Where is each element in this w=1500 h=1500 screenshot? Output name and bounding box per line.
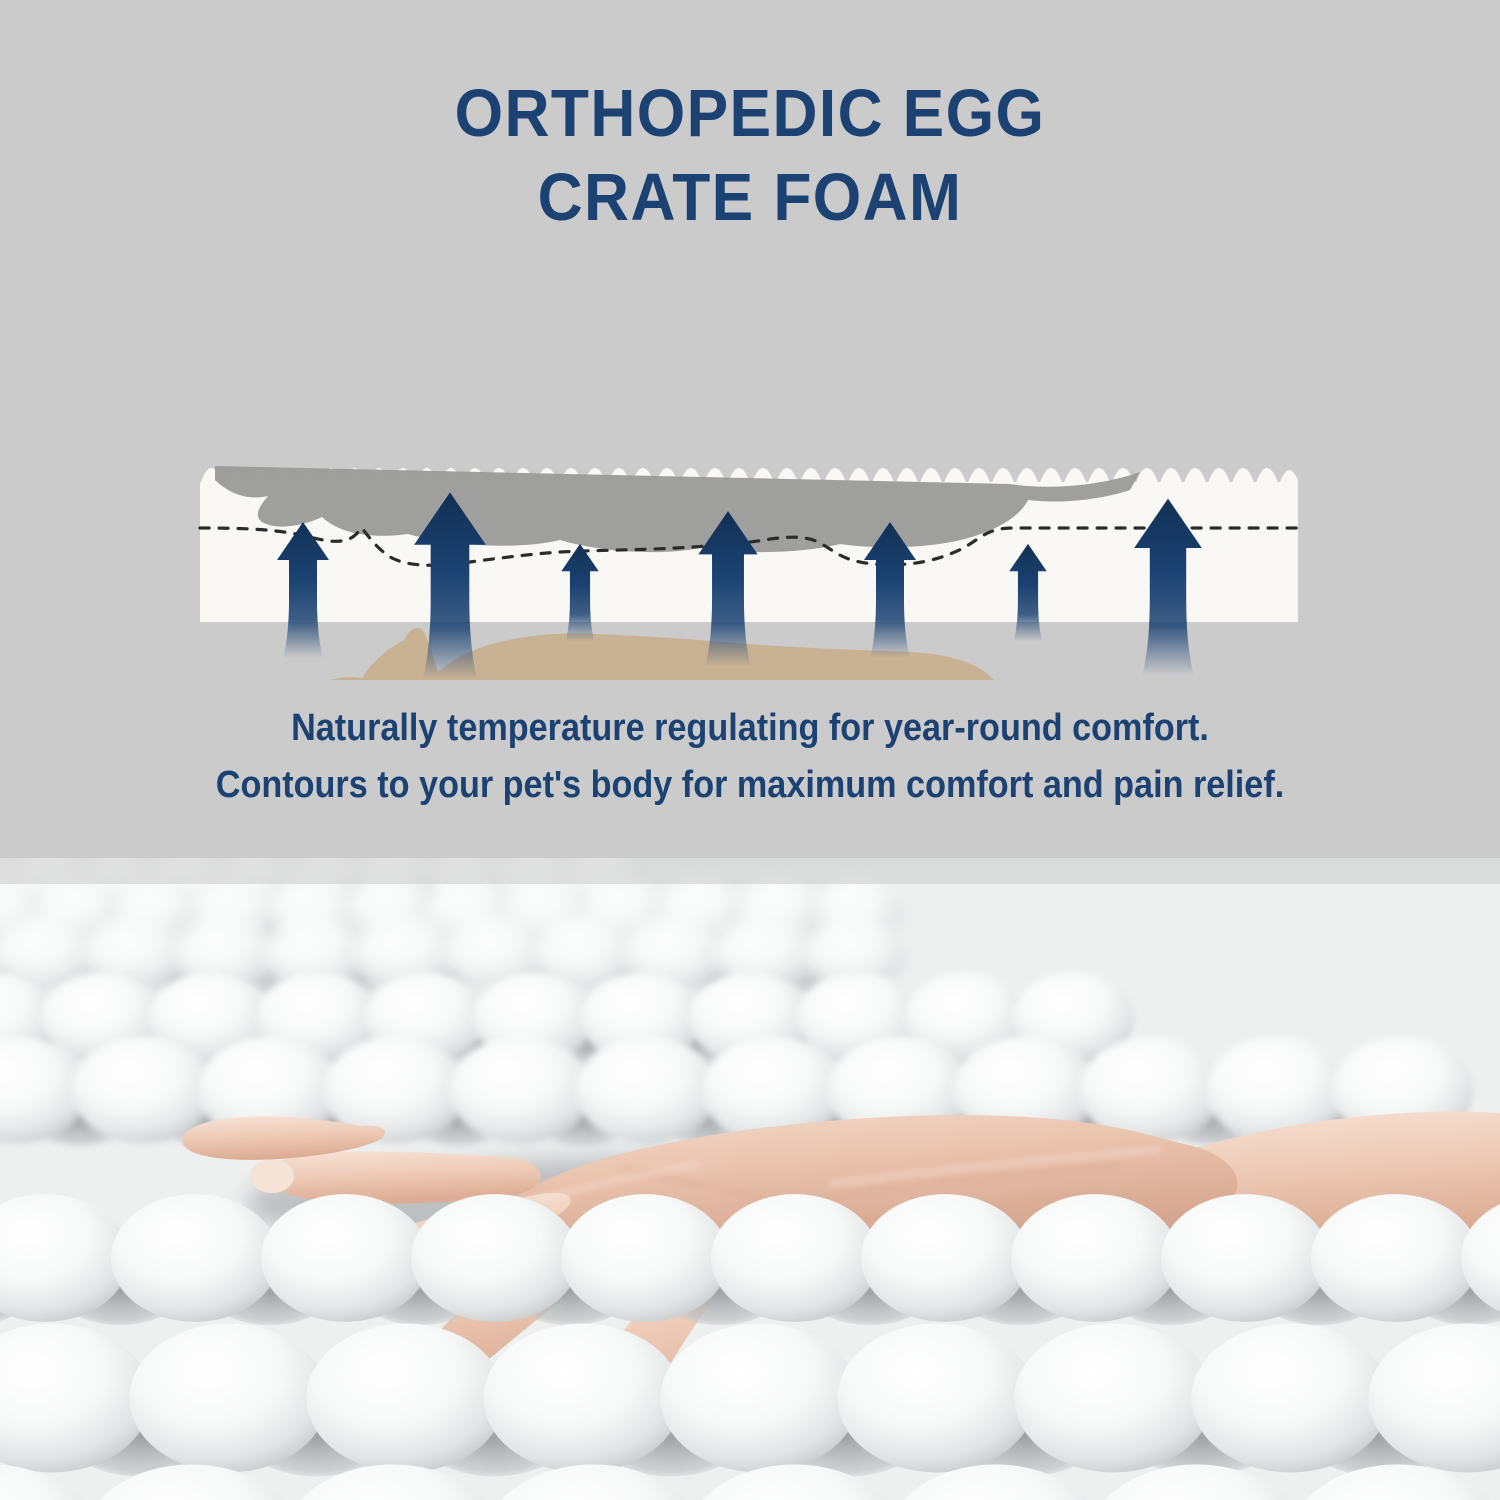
foam-support-diagram	[0, 300, 1500, 680]
title-line-2: CRATE FOAM	[53, 156, 1448, 240]
infographic-top-panel: ORTHOPEDIC EGG CRATE FOAM	[0, 0, 1500, 858]
foam-texture-near	[0, 1194, 1500, 1500]
title-line-1: ORTHOPEDIC EGG	[53, 72, 1448, 156]
feature-line-1: Naturally temperature regulating for yea…	[75, 700, 1425, 757]
feature-line-2: Contours to your pet's body for maximum …	[75, 757, 1425, 814]
fingernail-index	[250, 1159, 294, 1193]
feature-description: Naturally temperature regulating for yea…	[0, 700, 1500, 814]
page-title: ORTHOPEDIC EGG CRATE FOAM	[0, 72, 1500, 240]
foam-hand-photo	[0, 858, 1500, 1500]
